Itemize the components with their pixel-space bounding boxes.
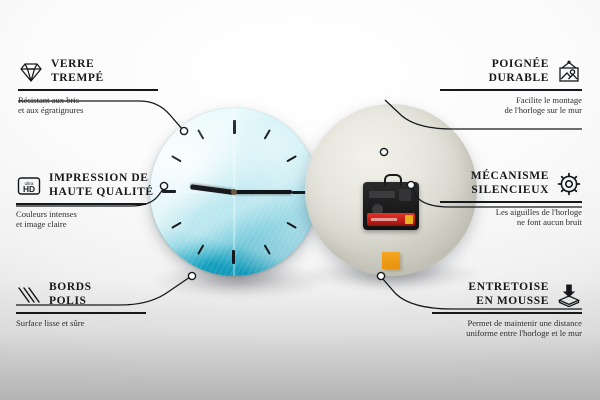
callout-rule <box>440 89 582 91</box>
callout-bords-polis: BORDS POLIS Surface lisse et sûre <box>16 281 146 328</box>
callout-sub-line1: Résistant aux bris <box>18 95 158 106</box>
callout-sub-line2: ne font aucun bruit <box>440 217 582 228</box>
diagonal-lines-icon <box>16 282 42 308</box>
callout-impression-haute-qualite: ultra HD IMPRESSION DE HAUTE QUALITÉ Cou… <box>16 172 146 230</box>
glass-gloss <box>150 108 318 276</box>
quartz-movement <box>363 182 419 230</box>
callout-poignee-durable: POIGNÉE DURABLE Facilite le montage de l… <box>440 58 582 116</box>
callout-sub-line1: Permet de maintenir une distance <box>432 318 582 329</box>
clock-front[interactable] <box>150 108 318 276</box>
callout-sub-line1: Surface lisse et sûre <box>16 318 146 329</box>
callout-sub-line1: Couleurs intenses <box>16 209 146 220</box>
callout-mecanisme-silencieux: MÉCANISME SILENCIEUX <box>440 170 582 228</box>
svg-text:HD: HD <box>23 184 35 194</box>
callout-head: ultra HD IMPRESSION DE HAUTE QUALITÉ <box>16 172 146 199</box>
callout-rule <box>18 89 158 91</box>
infographic-canvas: VERRE TREMPÉ Résistant aux bris et aux é… <box>0 0 600 400</box>
callout-entretoise-en-mousse: ENTRETOISE EN MOUSSE Permet de maintenir… <box>432 281 582 339</box>
battery <box>367 213 415 226</box>
callout-head: BORDS POLIS <box>16 281 146 308</box>
movement-slot <box>369 191 395 198</box>
callout-sub-line2: et image claire <box>16 219 146 230</box>
callout-rule <box>16 312 146 314</box>
callout-title: POIGNÉE DURABLE <box>489 58 549 85</box>
movement-block <box>399 189 411 201</box>
gear-icon <box>556 171 582 197</box>
callout-sub-line2: et aux égratignures <box>18 105 158 116</box>
foam-spacer-icon <box>556 282 582 308</box>
callout-sub-line2: uniforme entre l'horloge et le mur <box>432 328 582 339</box>
callout-title: VERRE TREMPÉ <box>51 58 104 85</box>
callout-rule <box>432 312 582 314</box>
ultra-hd-icon: ultra HD <box>16 173 42 199</box>
callout-rule <box>440 201 582 203</box>
callout-title: IMPRESSION DE HAUTE QUALITÉ <box>49 172 154 199</box>
callout-head: POIGNÉE DURABLE <box>440 58 582 85</box>
callout-rule <box>16 203 146 205</box>
hanging-hook-icon <box>384 174 402 186</box>
battery-cap <box>405 215 413 224</box>
callout-title: ENTRETOISE EN MOUSSE <box>468 281 549 308</box>
callout-title: MÉCANISME SILENCIEUX <box>471 170 549 197</box>
picture-hook-icon <box>556 59 582 85</box>
callout-sub-line1: Les aiguilles de l'horloge <box>440 207 582 218</box>
callout-head: ENTRETOISE EN MOUSSE <box>432 281 582 308</box>
callout-head: VERRE TREMPÉ <box>18 58 158 85</box>
callout-verre-trempe: VERRE TREMPÉ Résistant aux bris et aux é… <box>18 58 158 116</box>
battery-band <box>371 218 397 221</box>
callout-sub-line2: de l'horloge sur le mur <box>440 105 582 116</box>
callout-sub-line1: Facilite le montage <box>440 95 582 106</box>
diamond-icon <box>18 59 44 85</box>
callout-title: BORDS POLIS <box>49 281 92 308</box>
foam-spacer <box>382 252 400 269</box>
callout-head: MÉCANISME SILENCIEUX <box>440 170 582 197</box>
